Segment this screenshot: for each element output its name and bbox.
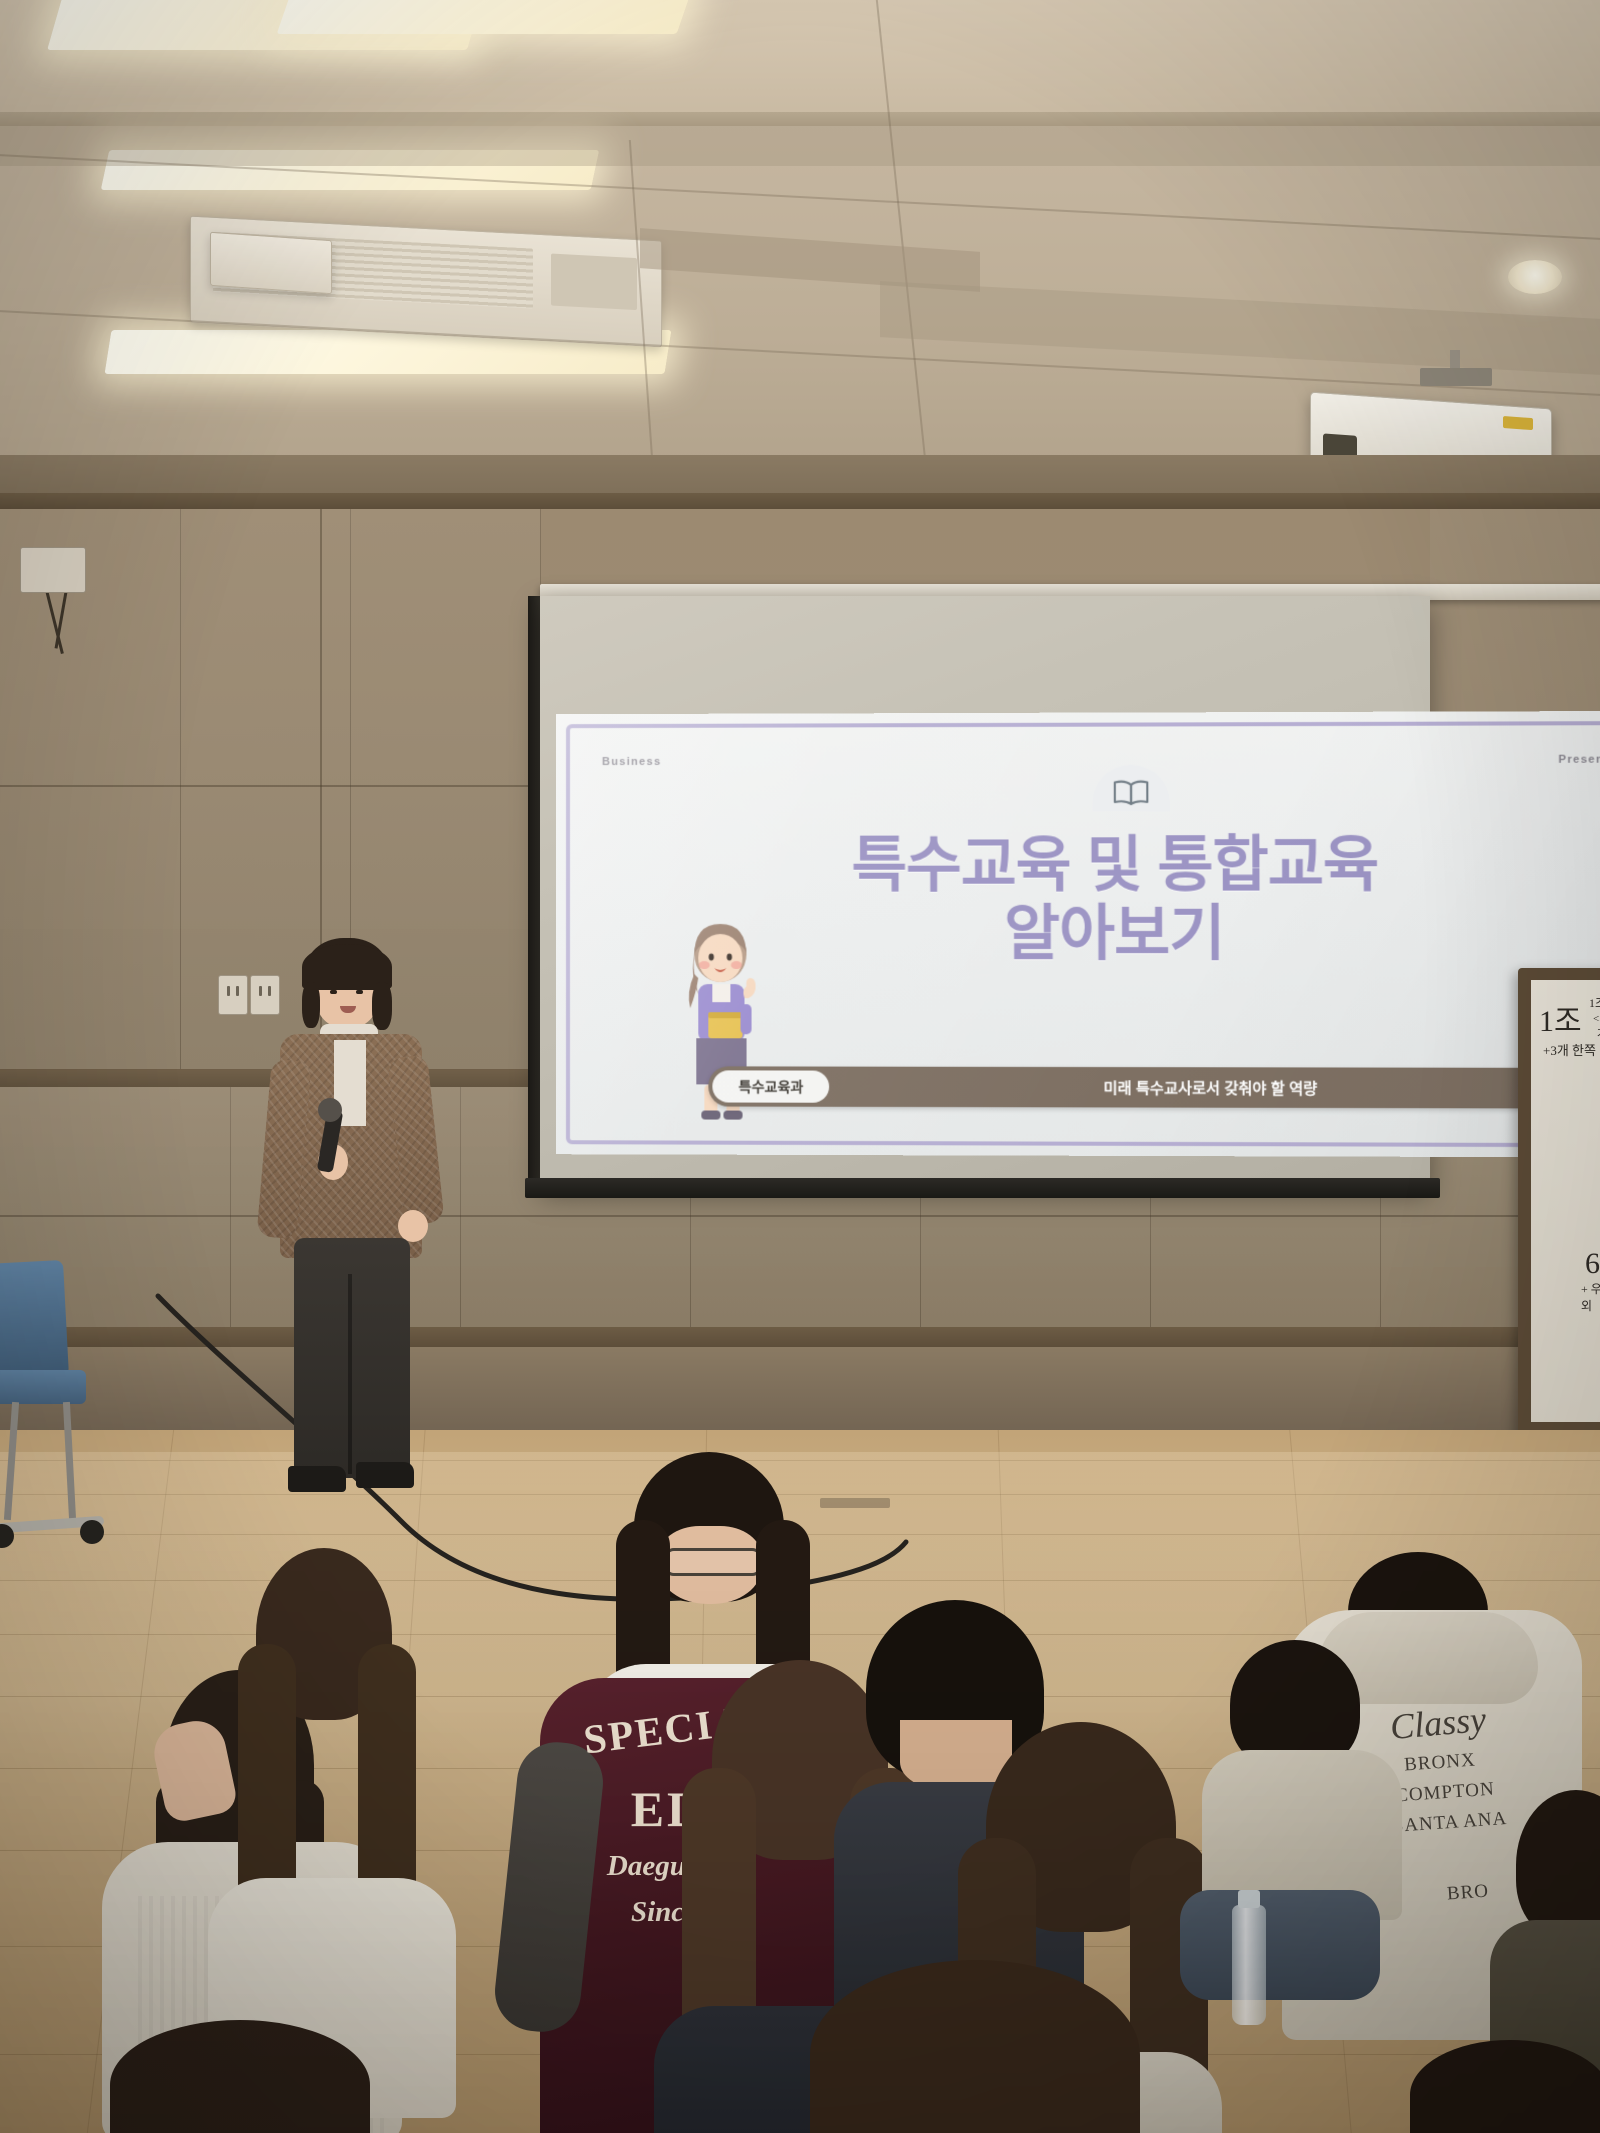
water-bottle-cap: [1238, 1890, 1260, 1908]
whiteboard-note-2-big: 6조: [1585, 1238, 1600, 1282]
slide-kicker-right: Presentation: [1558, 753, 1600, 765]
whiteboard-note-2-under: + 우리 학년 외: [1581, 1280, 1600, 1314]
whiteboard-note-1-big: 1조: [1539, 996, 1582, 1040]
power-outlet[interactable]: [218, 975, 248, 1015]
slide-kicker-left: Business: [602, 756, 661, 768]
photo-scene: EPSON: [0, 0, 1600, 2133]
whiteboard-note-1-mid: <개>: [1593, 1010, 1600, 1026]
whiteboard-note-1-top: 1조에: [1589, 994, 1600, 1011]
audience-person: [810, 1960, 1140, 2133]
whiteboard-note-1-under: +3개 한쪽: [1543, 1040, 1596, 1059]
slide-tag-topic: 미래 특수교사로서 갖춰야 할 역량: [830, 1076, 1596, 1099]
whiteboard-surface: 1조 1조에 <개> 거요 +3개 한쪽 6조 대표 <개> + 우리 학년 외: [1531, 980, 1600, 1422]
slide-tag-department: 특수교육과: [712, 1070, 829, 1102]
ceiling: [0, 0, 1600, 460]
presenter-speaker: [258, 938, 438, 1508]
audience-person: [110, 2020, 370, 2133]
wall-plate: [20, 547, 86, 593]
downlight: [1508, 260, 1562, 294]
presentation-slide: STUDY Business Presentation 특수교육 및 통합교육 …: [556, 711, 1600, 1158]
water-bottle[interactable]: [1232, 1905, 1266, 2025]
slide-tag-bar: 특수교육과 미래 특수교사로서 갖춰야 할 역량: [708, 1066, 1595, 1108]
audience-person: [1410, 2040, 1600, 2133]
projection-screen-bottom-bar: [525, 1178, 1440, 1198]
eyeglasses: [664, 1548, 762, 1576]
slide-title-line1: 특수교육 및 통합교육: [851, 831, 1378, 899]
presenter-trousers: [294, 1238, 410, 1478]
